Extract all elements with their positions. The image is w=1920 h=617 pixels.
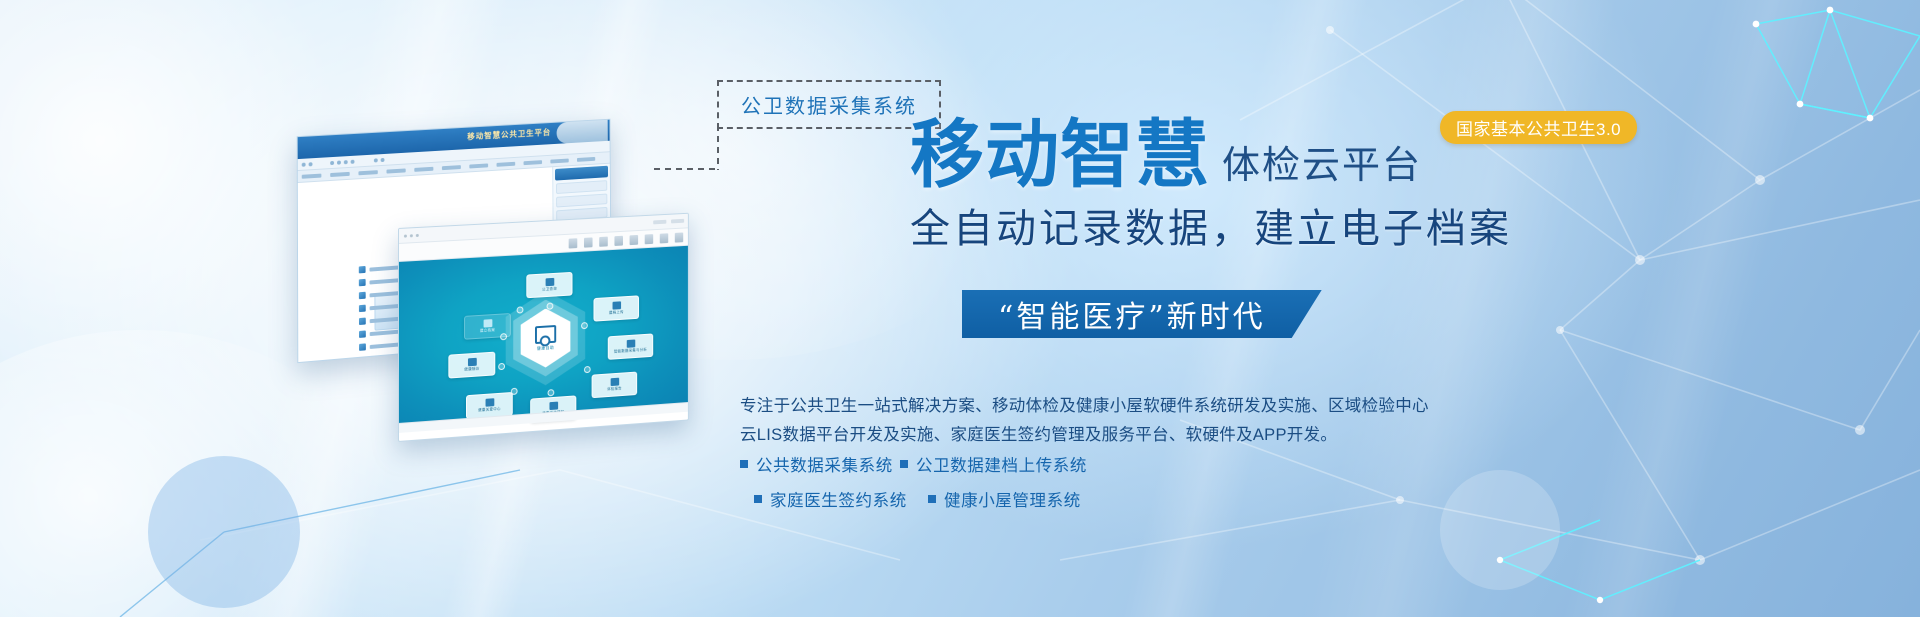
dashboard-node[interactable]: 建档上传 xyxy=(594,295,640,321)
list-item-label: 公卫数据建档上传系统 xyxy=(916,452,1087,476)
node-label: 建立档案 xyxy=(480,328,495,334)
node-label: 建档上传 xyxy=(609,310,624,316)
bullet-square-icon xyxy=(754,495,762,503)
headline-primary: 移动智慧 xyxy=(910,118,1210,192)
dashboard-stage: 公卫查询 建档上传 智能数据采集与分析 体检报告 健康评估预知 健康关爱中心 xyxy=(399,246,688,433)
node-icon xyxy=(485,398,494,407)
list-item[interactable]: 公卫数据建档上传系统 xyxy=(900,452,1100,476)
headline-tagline: 全自动记录数据，建立电子档案 xyxy=(910,196,1512,254)
list-item[interactable]: 公共数据采集系统 xyxy=(740,452,900,476)
node-icon xyxy=(483,319,492,327)
node-label: 体检报告 xyxy=(607,386,622,392)
description-paragraph: 专注于公共卫生一站式解决方案、移动体检及健康小屋软硬件系统研发及实施、区域检验中… xyxy=(740,396,1920,454)
dashboard-node[interactable]: 体检报告 xyxy=(592,372,638,399)
bullet-square-icon xyxy=(740,460,748,468)
dashboard-node[interactable]: 智能数据采集与分析 xyxy=(608,333,653,359)
list-item-label: 公共数据采集系统 xyxy=(756,452,893,476)
ribbon-label: “智能医疗”新时代 xyxy=(998,292,1266,336)
status-badge: 国家基本公共卫生3.0 xyxy=(1440,111,1637,144)
node-label: 智能数据采集与分析 xyxy=(614,347,647,354)
description-line: 专注于公共卫生一站式解决方案、移动体检及健康小屋软硬件系统研发及实施、区域检验中… xyxy=(740,396,1920,416)
headline-row: 移动智慧 体检云平台 国家基本公共卫生3.0 xyxy=(910,118,1422,192)
node-icon xyxy=(626,340,635,348)
list-item-label: 家庭医生签约系统 xyxy=(770,487,907,511)
side-panel-header xyxy=(555,166,608,181)
node-icon xyxy=(549,402,558,410)
list-item[interactable]: 健康小屋管理系统 xyxy=(914,487,1128,511)
list-item[interactable]: 家庭医生签约系统 xyxy=(740,487,914,511)
product-list-row: 公共数据采集系统 公卫数据建档上传系统 xyxy=(740,452,1300,476)
node-icon xyxy=(545,278,554,286)
description-line: 云LIS数据平台开发及实施、家庭医生签约管理及服务平台、软硬件及APP开发。 xyxy=(740,425,1920,445)
node-label: 健康关爱中心 xyxy=(478,407,501,414)
hex-center-graphic: 健康自助 xyxy=(499,288,591,389)
callout-leader-horizontal xyxy=(654,168,719,170)
bg-circle-bottom-left xyxy=(148,456,300,608)
headline-secondary: 体检云平台 xyxy=(1222,142,1422,192)
product-list-row: 家庭医生签约系统 健康小屋管理系统 xyxy=(740,487,1300,511)
callout-leader-vertical xyxy=(717,125,719,170)
node-label: 健康随访 xyxy=(464,367,479,373)
bullet-square-icon xyxy=(900,460,908,468)
promo-banner: 移动智慧公共卫生平台 xyxy=(0,0,1920,617)
copy-block: 移动智慧 体检云平台 国家基本公共卫生3.0 全自动记录数据，建立电子档案 “智… xyxy=(740,0,1920,617)
list-item-label: 健康小屋管理系统 xyxy=(944,487,1081,511)
ribbon-banner: “智能医疗”新时代 xyxy=(962,290,1322,338)
bullet-square-icon xyxy=(928,495,936,503)
dashboard-node[interactable]: 健康随访 xyxy=(448,352,495,379)
node-icon xyxy=(612,301,621,309)
window-title: 移动智慧公共卫生平台 xyxy=(467,127,551,142)
screenshot-dashboard-window: 公卫查询 建档上传 智能数据采集与分析 体检报告 健康评估预知 健康关爱中心 xyxy=(398,213,689,442)
product-list: 公共数据采集系统 公卫数据建档上传系统 家庭医生签约系统 健康小屋管理系统 xyxy=(740,452,1300,522)
node-icon xyxy=(610,378,619,386)
doctor-photo xyxy=(557,120,608,144)
node-icon xyxy=(467,358,476,367)
magnifier-document-icon xyxy=(535,324,556,343)
